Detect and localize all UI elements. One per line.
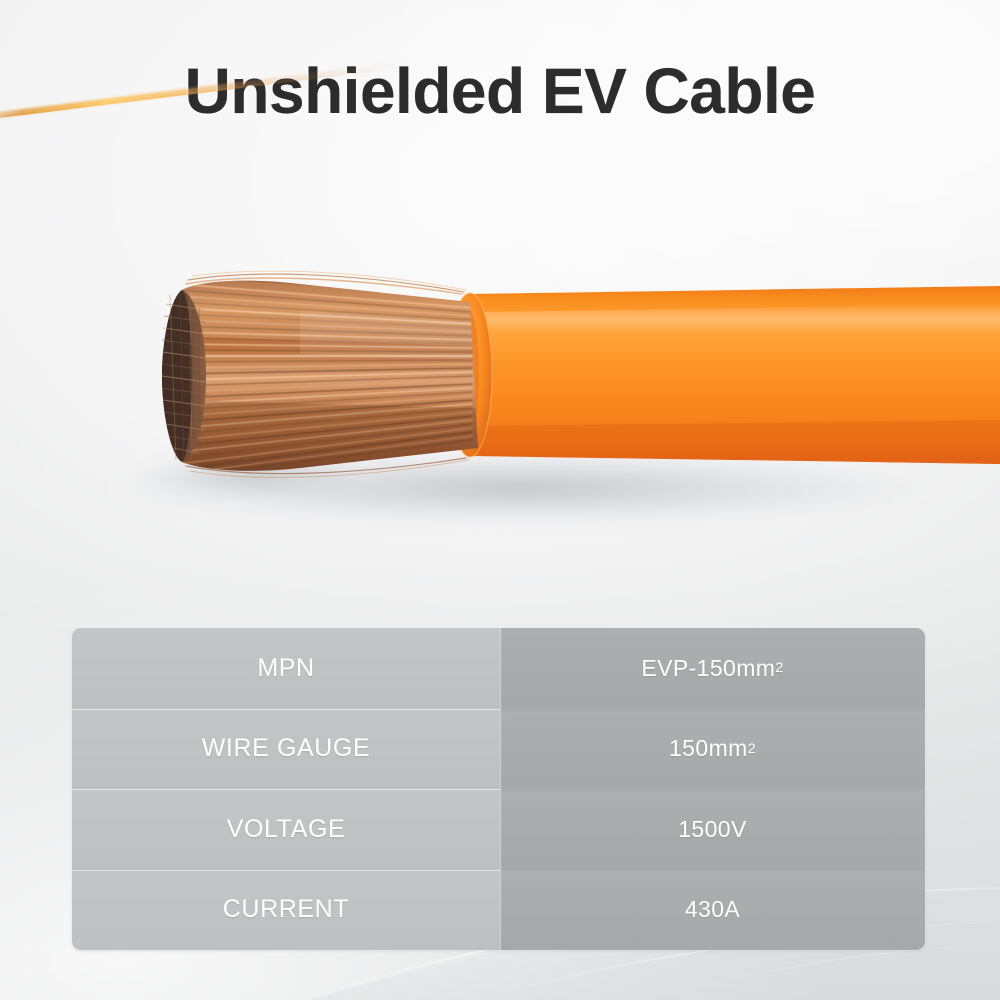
table-row: CURRENT 430A [72,870,925,951]
cable-jacket [448,286,1000,464]
spec-value-voltage: 1500V [500,789,925,870]
spec-key-voltage: VOLTAGE [72,789,500,870]
spec-key-mpn: MPN [72,628,500,709]
spec-value-wire-gauge-text: 150 [669,735,709,762]
table-row: MPN EVP-150mm2 [72,628,925,709]
ev-cable-product-image [0,250,1000,590]
spec-value-wire-gauge-unit: mm [709,735,748,762]
spec-value-mpn-text: EVP-150 [641,655,736,682]
spec-key-wire-gauge: WIRE GAUGE [72,709,500,790]
spec-value-wire-gauge: 150mm2 [500,709,925,790]
product-image-canvas: Unshielded EV Cable [0,0,1000,1000]
spec-table: MPN EVP-150mm2 WIRE GAUGE 150mm2 VOLTAGE… [72,628,925,950]
spec-key-current: CURRENT [72,870,500,951]
spec-value-current-text: 430A [685,896,740,923]
table-row: VOLTAGE 1500V [72,789,925,870]
copper-strand-bundle [162,271,480,477]
spec-value-current: 430A [500,870,925,951]
page-title: Unshielded EV Cable [185,54,816,128]
title-container: Unshielded EV Cable [0,54,1000,128]
spec-value-mpn-unit: mm [736,655,775,682]
table-row: WIRE GAUGE 150mm2 [72,709,925,790]
spec-value-voltage-text: 1500V [678,816,747,843]
spec-value-mpn: EVP-150mm2 [500,628,925,709]
